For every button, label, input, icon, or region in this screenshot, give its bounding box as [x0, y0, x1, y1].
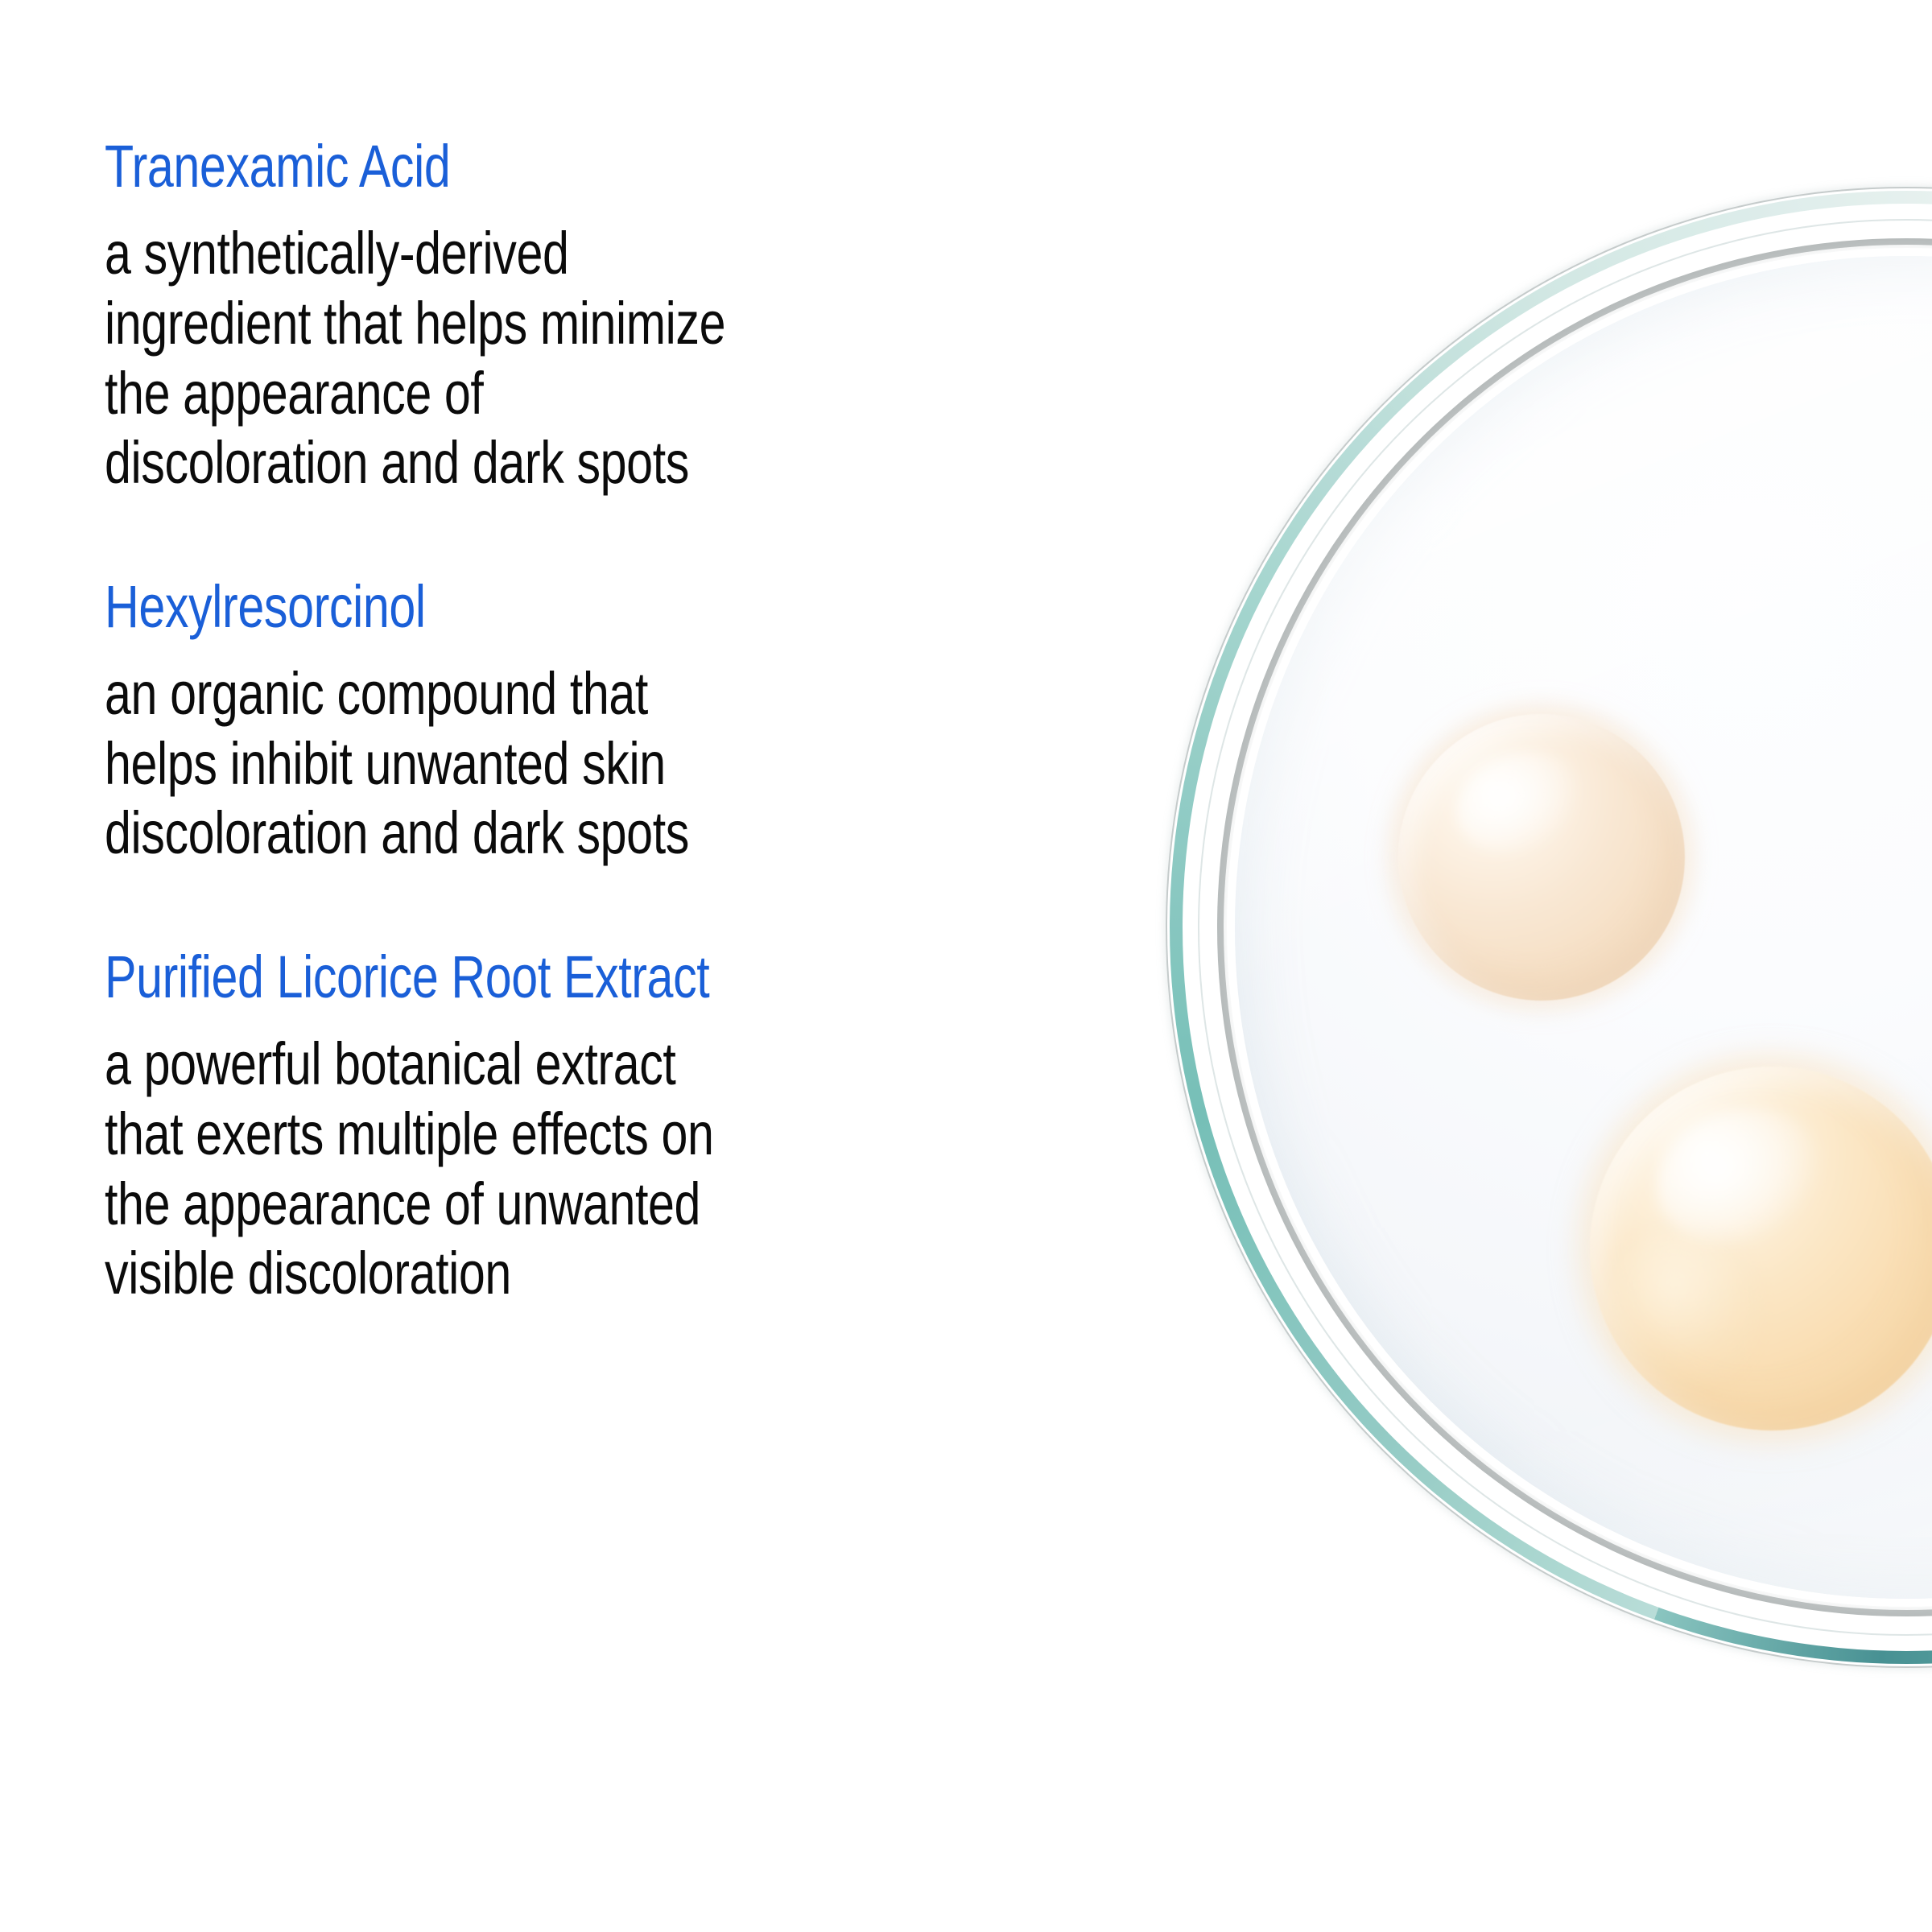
ingredient-item-hexylresorcinol: Hexylresorcinol an organic compound that… [105, 576, 1143, 869]
ingredient-name-heading: Purified Licorice Root Extract [105, 946, 935, 1009]
infographic-canvas: Tranexamic Acid a synthetically-derived … [0, 0, 1932, 1932]
description-line: discoloration and dark spots [105, 799, 1135, 869]
droplet-lobe [1604, 1227, 1757, 1394]
description-line: ingredient that helps minimize [105, 289, 1135, 359]
ingredient-description: an organic compound that helps inhibit u… [105, 659, 1135, 869]
description-line: helps inhibit unwanted skin [105, 729, 1135, 799]
description-line: an organic compound that [105, 659, 1135, 729]
description-line: a synthetically-derived [105, 219, 1135, 289]
description-line: that exerts multiple effects on [105, 1100, 1135, 1170]
droplet-highlight [1442, 734, 1596, 872]
ingredient-description: a powerful botanical extract that exerts… [105, 1030, 1135, 1308]
description-line: a powerful botanical extract [105, 1030, 1135, 1100]
serum-droplet-small [1398, 714, 1685, 1001]
ingredient-name-heading: Hexylresorcinol [105, 576, 935, 638]
ingredient-item-tranexamic-acid: Tranexamic Acid a synthetically-derived … [105, 135, 1143, 498]
ingredient-item-purified-licorice-root-extract: Purified Licorice Root Extract a powerfu… [105, 946, 1143, 1309]
description-line: the appearance of [105, 359, 1135, 429]
description-line: visible discoloration [105, 1239, 1135, 1309]
description-line: the appearance of unwanted [105, 1170, 1135, 1240]
ingredient-description: a synthetically-derived ingredient that … [105, 219, 1135, 497]
serum-droplet-large [1590, 1067, 1932, 1430]
ingredient-list: Tranexamic Acid a synthetically-derived … [105, 135, 1143, 1309]
description-line: discoloration and dark spots [105, 428, 1135, 498]
ingredient-name-heading: Tranexamic Acid [105, 135, 935, 198]
